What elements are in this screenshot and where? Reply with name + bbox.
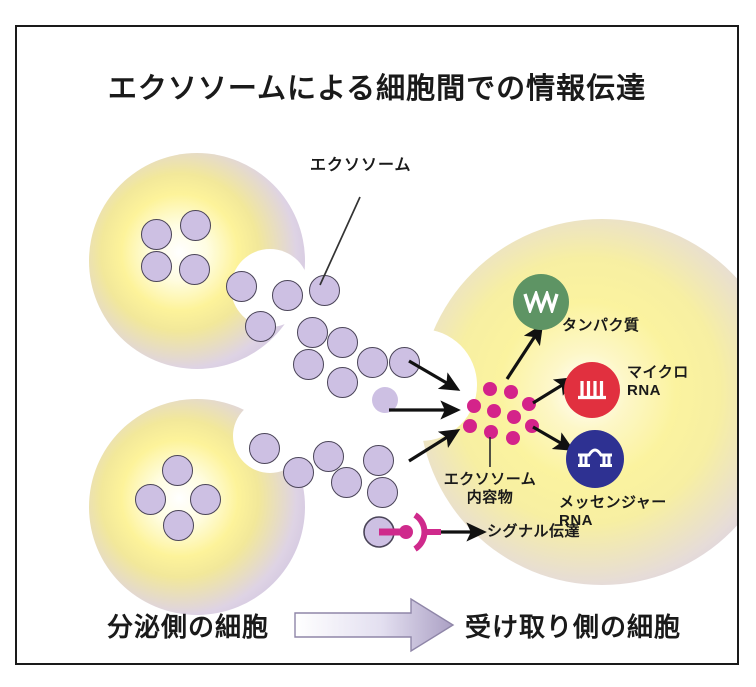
exosome-contents-label-line2: 内容物: [415, 489, 565, 507]
organelle-messenger-rna: [566, 430, 624, 488]
organelle-messenger-rna-label-line1: メッセンジャー: [559, 494, 667, 512]
organelle-protein: [513, 274, 569, 330]
figure-frame: エクソソームによる細胞間での情報伝達: [15, 25, 739, 665]
organelle-micro-rna-label: マイクロ RNA: [627, 364, 689, 399]
receiver-side-caption: 受け取り側の細胞: [465, 607, 681, 644]
exosome-contents-label: エクソソーム 内容物: [415, 471, 565, 507]
organelle-micro-rna-label-line2: RNA: [627, 382, 689, 400]
arrow-in-bottom: [409, 431, 457, 461]
exosome-label: エクソソーム: [310, 151, 412, 175]
organelle-micro-rna: [564, 362, 620, 418]
exosome-leader-line: [320, 197, 360, 285]
exosome-contents-label-line1: エクソソーム: [415, 471, 565, 489]
diagram-arrows-layer: [17, 27, 737, 663]
organelle-micro-rna-label-line1: マイクロ: [627, 364, 689, 382]
zigzag-icon: [523, 291, 559, 313]
comb-icon: [575, 377, 609, 403]
signal-transduction-label: シグナル伝達: [487, 523, 637, 541]
organelle-protein-label: タンパク質: [562, 317, 640, 335]
arrow-in-top: [409, 361, 457, 389]
signal-ligand-dot: [399, 525, 413, 539]
arch-comb-icon: [576, 446, 614, 472]
organelle-protein-label-line1: タンパク質: [562, 317, 640, 334]
arrow-to-protein: [507, 327, 541, 379]
sender-side-caption: 分泌側の細胞: [107, 607, 269, 644]
diagram-stage: エクソソームによる細胞間での情報伝達: [17, 27, 737, 663]
flow-arrow: [295, 599, 453, 651]
arrow-to-messenger-rna: [533, 427, 571, 449]
